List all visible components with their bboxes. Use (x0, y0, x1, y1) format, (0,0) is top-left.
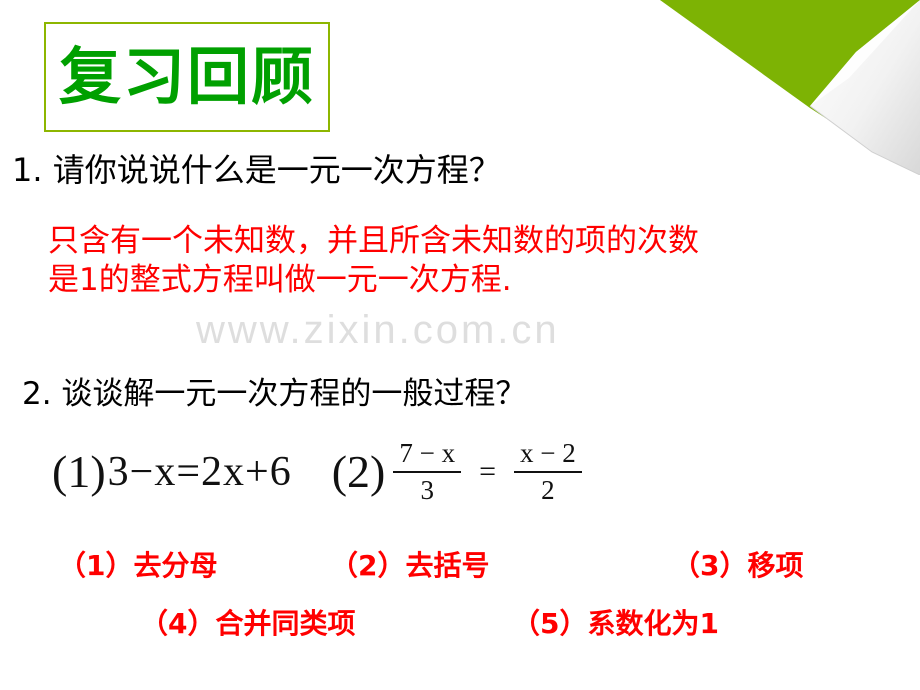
equation-2-right-denominator: 2 (535, 473, 561, 506)
step-4: （4）合并同类项 (140, 602, 355, 642)
equation-1-body: 3−x=2x+6 (108, 448, 292, 496)
page-curl-decoration (660, 0, 920, 175)
question-1: 1. 请你说说什么是一元一次方程？ (12, 145, 501, 191)
equation-2-right-fraction: x − 2 2 (514, 438, 582, 506)
equation-1-label-close: ) (90, 449, 105, 495)
equation-1-label-open: ( (52, 449, 67, 495)
solution-steps-row-1: （1）去分母 （2）去括号 （3）移项 (0, 540, 920, 592)
watermark: www.zixin.com.cn (196, 308, 560, 353)
step-3: （3）移项 (672, 544, 803, 584)
equation-2-left-denominator: 3 (414, 473, 440, 506)
equation-2-label-close: ) (370, 449, 385, 495)
slide-title: 复习回顾 (59, 46, 315, 108)
equations-row: ( 1 ) 3−x=2x+6 ( 2 ) 7 − x 3 = x − 2 2 (52, 424, 590, 520)
step-5: （5）系数化为1 (512, 602, 719, 642)
equation-2-left-fraction: 7 − x 3 (393, 438, 461, 506)
equation-2-equals: = (479, 455, 496, 489)
step-1: （1）去分母 (58, 544, 217, 584)
solution-steps: （1）去分母 （2）去括号 （3）移项 （4）合并同类项 （5）系数化为1 (0, 540, 920, 644)
equation-2-label-index: 2 (347, 449, 370, 495)
equation-2-right-numerator: x − 2 (514, 438, 582, 471)
equation-2-left-numerator: 7 − x (393, 438, 461, 471)
equation-2-label-open: ( (332, 449, 347, 495)
slide-title-box: 复习回顾 (44, 22, 330, 132)
answer-1: 只含有一个未知数，并且所含未知数的项的次数 是1的整式方程叫做一元一次方程. (48, 222, 888, 300)
answer-1-line-1: 只含有一个未知数，并且所含未知数的项的次数 (48, 223, 699, 259)
solution-steps-row-2: （4）合并同类项 （5）系数化为1 (0, 592, 920, 644)
step-2: （2）去括号 (330, 544, 489, 584)
answer-1-line-2: 是1的整式方程叫做一元一次方程. (48, 261, 888, 300)
equation-1-label-index: 1 (67, 449, 90, 495)
question-2: 2. 谈谈解一元一次方程的一般过程？ (22, 368, 526, 413)
